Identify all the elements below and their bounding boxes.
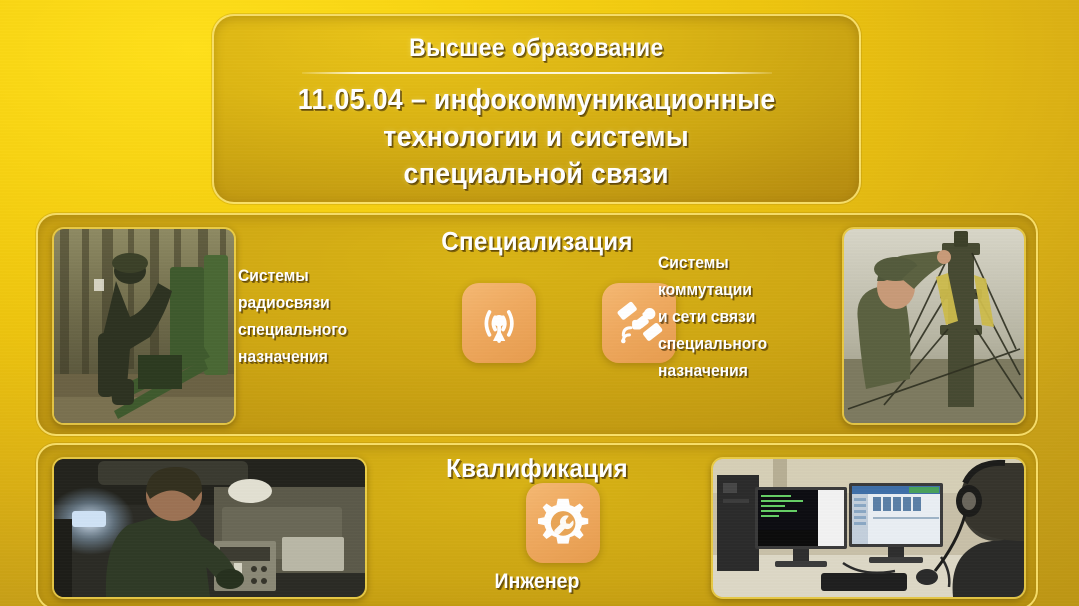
soldier-field-equipment-photo [52,227,236,425]
dual-monitor-workstation-photo [711,457,1026,599]
radio-tower-icon [462,283,536,363]
program-code-line: 11.05.04 – инфокоммуникационные [298,82,776,119]
specialization-panel: Специализация [36,213,1038,436]
soldier-antenna-mast-photo [842,227,1026,425]
spec-right-line-3: и сети связи [658,303,851,330]
spec-right-line-1: Системы [658,249,851,276]
spec-right-line-4: специального [658,330,851,357]
spec-right-line-2: коммутации [658,276,851,303]
education-level-label: Высшее образование [409,34,664,62]
title-panel: Высшее образование 11.05.04 – инфокоммун… [212,14,861,204]
title-divider [302,72,772,74]
program-name-line-3: специальной связи [404,156,669,193]
spec-right-line-5: назначения [658,357,851,384]
gear-wrench-icon [526,483,600,563]
program-name-line-2: технологии и системы [384,119,690,156]
specialization-left-text: Системы радиосвязи специального назначен… [238,262,422,370]
spec-left-line-3: специального [238,316,422,343]
spec-left-line-4: назначения [238,343,422,370]
spec-left-line-2: радиосвязи [238,289,422,316]
title-inner: Высшее образование 11.05.04 – инфокоммун… [214,16,859,202]
specialization-right-text: Системы коммутации и сети связи специаль… [658,249,851,384]
qualification-panel: Квалификация [36,443,1038,606]
slide-root: Высшее образование 11.05.04 – инфокоммун… [0,0,1079,606]
spec-left-line-1: Системы [238,262,422,289]
